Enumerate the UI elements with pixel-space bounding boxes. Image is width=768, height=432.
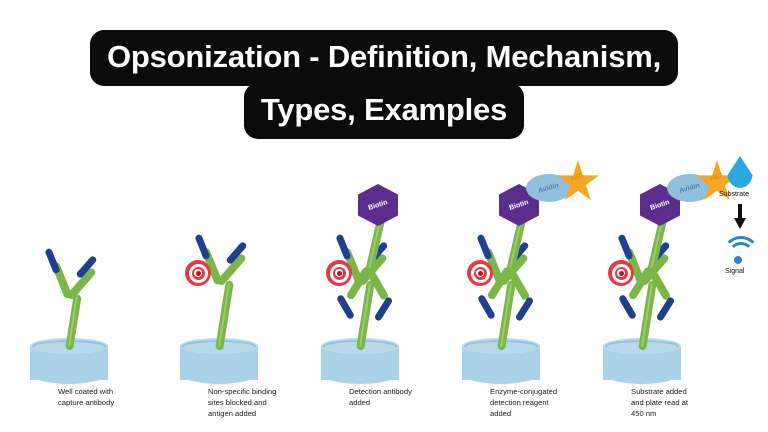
diagram-step-1: Well coated with capture antibody [12, 148, 162, 432]
diagram-step-2: Non-specific binding sites blocked and a… [162, 148, 312, 432]
step-caption-5: Substrate added and plate read at 450 nm [631, 386, 751, 419]
antigen-3 [326, 260, 352, 286]
down-arrow-icon [734, 204, 746, 230]
page-title: Opsonization - Definition, Mechanism, Ty… [0, 30, 768, 139]
title-line-1: Opsonization - Definition, Mechanism, [90, 30, 678, 86]
antigen-5 [608, 260, 634, 286]
screenshot-root: Opsonization - Definition, Mechanism, Ty… [0, 0, 768, 432]
diagram-step-3: Biotin Detection antibody added [303, 148, 453, 432]
substrate-droplet-icon [727, 156, 753, 188]
diagram-step-5: Biotin Avidin HRP Substrate [585, 148, 768, 432]
antigen-4 [467, 260, 493, 286]
signal-label: Signal [725, 268, 744, 275]
signal-wave-icon [720, 236, 760, 266]
title-line-2: Types, Examples [244, 83, 524, 139]
step-caption-1: Well coated with capture antibody [58, 386, 178, 408]
antigen-2 [185, 260, 211, 286]
elisa-diagram: Well coated with capture antibody [0, 148, 768, 432]
diagram-step-4: Biotin Avidin HRP Enzyme-conjugated dete… [444, 148, 594, 432]
substrate-label: Substrate [719, 191, 749, 198]
biotin-tag-3: Biotin [358, 184, 398, 226]
